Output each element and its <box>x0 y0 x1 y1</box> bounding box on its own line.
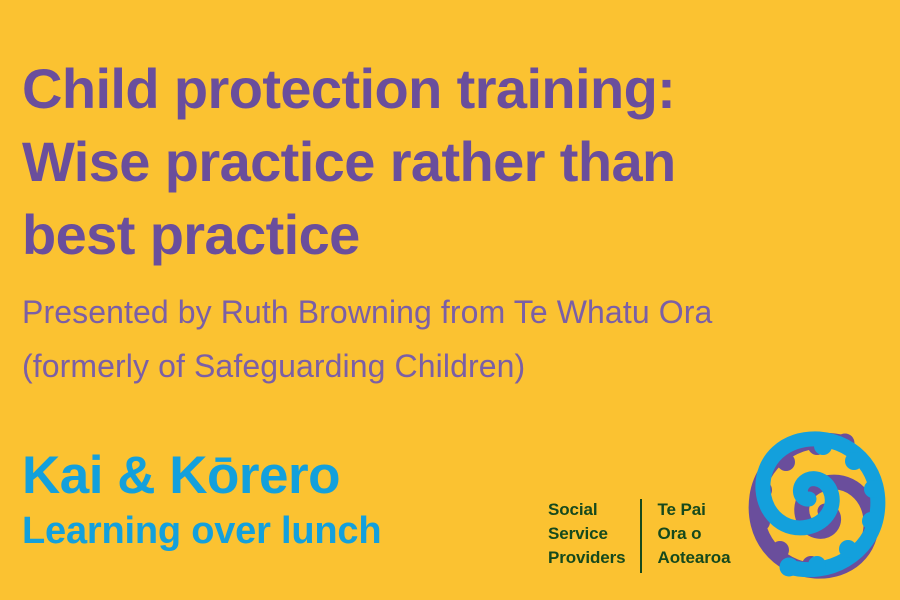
logo-english-line-1: Social <box>548 498 626 522</box>
koru-double-spiral-icon <box>733 426 893 586</box>
series-tagline: Learning over lunch <box>22 505 381 557</box>
subtitle-line-1: Presented by Ruth Browning from Te Whatu… <box>22 285 882 339</box>
logo-maori-line-3: Aotearoa <box>658 546 731 570</box>
logo-maori-line-1: Te Pai <box>658 498 731 522</box>
headline-line-3: best practice <box>22 198 852 271</box>
headline-line-1: Child protection training: <box>22 52 852 125</box>
presenter-subtitle: Presented by Ruth Browning from Te Whatu… <box>22 285 882 393</box>
logo-maori-line-2: Ora o <box>658 522 731 546</box>
logo-english-line-3: Providers <box>548 546 626 570</box>
series-title: Kai & Kōrero <box>22 447 381 505</box>
series-branding: Kai & Kōrero Learning over lunch <box>22 447 381 557</box>
logo-wordmark: Social Service Providers Te Pai Ora o Ao… <box>548 498 730 573</box>
logo-divider <box>640 499 642 573</box>
event-banner: Child protection training: Wise practice… <box>0 0 900 600</box>
logo-english-name: Social Service Providers <box>548 498 626 570</box>
logo-maori-name: Te Pai Ora o Aotearoa <box>658 498 731 570</box>
organisation-logo: Social Service Providers Te Pai Ora o Ao… <box>548 428 888 588</box>
page-title: Child protection training: Wise practice… <box>22 52 852 271</box>
subtitle-line-2: (formerly of Safeguarding Children) <box>22 339 882 393</box>
headline-line-2: Wise practice rather than <box>22 125 852 198</box>
logo-english-line-2: Service <box>548 522 626 546</box>
